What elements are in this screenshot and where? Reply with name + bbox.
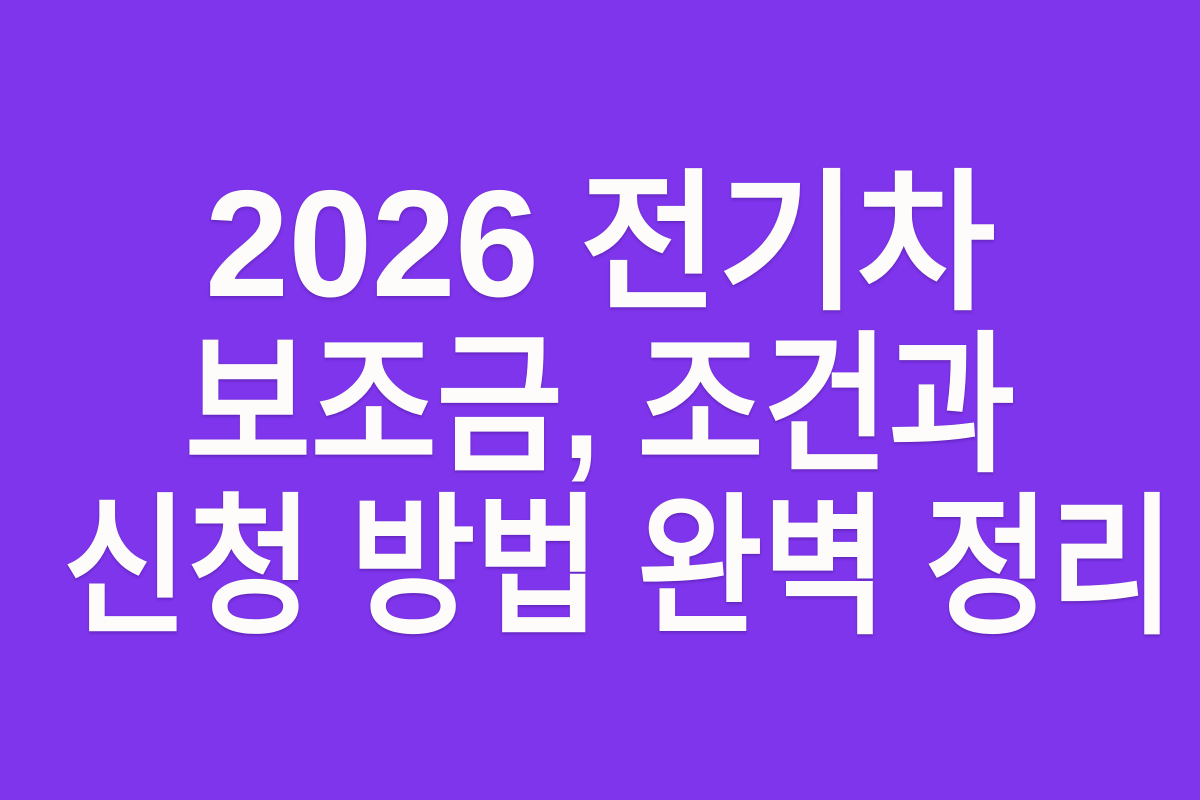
title-line-1: 2026 전기차 (0, 163, 1200, 325)
title-line-3: 신청 방법 완벽 정리 (0, 487, 1200, 649)
title-line-1-text: 2026 전기차 (205, 163, 995, 325)
title-line-2-text: 보조금, 조건과 (185, 325, 1015, 487)
title-line-2: 보조금, 조건과 (0, 325, 1200, 487)
title-line-3-text: 신청 방법 완벽 정리 (63, 487, 1175, 649)
title-thumbnail-card: 2026 전기차 보조금, 조건과 신청 방법 완벽 정리 (0, 0, 1200, 800)
page-title: 2026 전기차 보조금, 조건과 신청 방법 완벽 정리 (0, 163, 1200, 649)
